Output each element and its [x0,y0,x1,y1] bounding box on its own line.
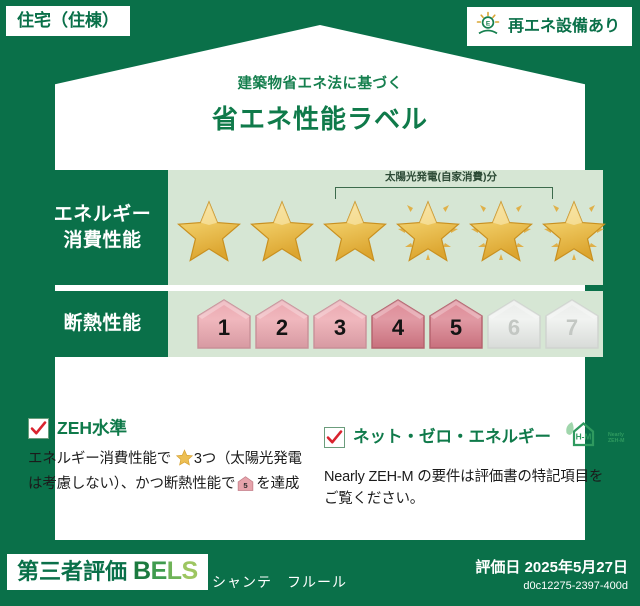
zeh-standard-description: エネルギー消費性能で 3つ（太陽光発電は考慮しない）、かつ断熱性能で 5 を達成 [28,448,308,500]
insulation-grade-inactive: 6 [486,297,542,351]
svg-text:H-M: H-M [576,432,592,442]
svg-text:ZEH-M: ZEH-M [608,438,624,444]
bels-letter-b: B [133,557,151,585]
star-rating [174,192,609,268]
check-icon [326,429,343,446]
insulation-label-text: 断熱性能 [63,311,141,337]
bels-letter-l: L [167,557,182,585]
star-solar [466,192,536,268]
star-base [174,192,244,268]
zeh-m-logo-icon: H-M Nearly ZEH-M [563,417,625,456]
renewable-equipment-badge: E 再エネ設備あり [467,7,632,46]
energy-performance-label: エネルギー 消費性能 [37,170,168,285]
net-zero-energy-title: ネット・ゼロ・エネルギー [353,429,551,446]
insulation-grade-number: 1 [196,317,252,339]
inline-star-icon [176,449,193,473]
insulation-grade-active: 5 [428,297,484,351]
insulation-grade-active: 2 [254,297,310,351]
label-footer: 第三者評価 BELS シャンテ フルール 評価日 2025年5月27日 d0c1… [0,548,640,606]
net-zero-energy-description: Nearly ZEH-M の要件は評価書の特記項目をご覧ください。 [324,466,604,511]
insulation-performance-row: 断熱性能 1 [37,291,603,357]
housing-type-tab: 住宅（住棟） [6,6,130,36]
title-subtitle: 建築物省エネ法に基づく [0,72,640,93]
insulation-performance-label: 断熱性能 [37,291,168,357]
insulation-grade-inactive: 7 [544,297,600,351]
insulation-grade-number: 2 [254,317,310,339]
insulation-rating-area: 1 2 3 [168,291,603,357]
star-base [247,192,317,268]
bels-letter-e: E [151,557,167,585]
zeh-standard-checkbox[interactable] [28,418,49,439]
insulation-grade-number: 4 [370,317,426,339]
star-solar [539,192,609,268]
solar-sun-icon: E [475,11,501,42]
bels-certification-mark: 第三者評価 BELS [7,554,208,590]
zeh-desc-part-1: エネルギー消費性能で [28,451,171,467]
insulation-grade-active: 4 [370,297,426,351]
insulation-grade-number: 7 [544,317,600,339]
star-base [320,192,390,268]
evaluation-id: d0c12275-2397-400d [475,580,628,592]
building-name: シャンテ フルール [212,572,347,592]
zeh-desc-part-3: を達成 [256,476,299,492]
zeh-standard-header: ZEH水準 [28,418,308,439]
zeh-criteria-group: ZEH水準 エネルギー消費性能で 3つ（太陽光発電は考慮しない）、かつ断熱性能で… [28,418,620,511]
net-zero-energy-checkbox[interactable] [324,427,345,448]
insulation-grade-number: 6 [486,317,542,339]
energy-label-line-2: 消費性能 [63,228,141,254]
bels-letter-s: S [182,557,198,585]
performance-rows: エネルギー 消費性能 太陽光発電(自家消費)分 [37,170,603,363]
energy-performance-label: 住宅（住棟） E 再エネ設備あり 建築物省エネ法に基づく 省エネ性能ラベル [0,0,640,606]
zeh-standard-title: ZEH水準 [57,420,127,438]
svg-text:E: E [486,20,491,27]
net-zero-energy-block: ネット・ゼロ・エネルギー H-M Nearly ZEH-M Nearly ZEH… [324,418,620,511]
bels-wordmark: BELS [133,559,198,584]
renewable-badge-label: 再エネ設備あり [508,19,620,35]
energy-rating-area: 太陽光発電(自家消費)分 [168,170,603,285]
energy-label-line-1: エネルギー [54,202,152,228]
page-title: 省エネ性能ラベル [0,99,640,136]
evaluation-date: 評価日 2025年5月27日 [475,556,628,577]
third-party-eval-label: 第三者評価 [17,561,127,583]
footer-evaluation-info: 評価日 2025年5月27日 d0c12275-2397-400d [475,556,628,592]
star-solar [393,192,463,268]
label-title-group: 建築物省エネ法に基づく 省エネ性能ラベル [0,72,640,136]
energy-performance-row: エネルギー 消費性能 太陽光発電(自家消費)分 [37,170,603,285]
inline-house-grade-icon: 5 [237,475,254,499]
net-zero-energy-header: ネット・ゼロ・エネルギー H-M Nearly ZEH-M [324,418,604,457]
insulation-grade-active: 1 [196,297,252,351]
insulation-grade-scale: 1 2 3 [196,297,600,351]
insulation-grade-number: 5 [428,317,484,339]
zeh-standard-block: ZEH水準 エネルギー消費性能で 3つ（太陽光発電は考慮しない）、かつ断熱性能で… [28,418,324,511]
check-icon [30,420,47,437]
insulation-grade-active: 3 [312,297,368,351]
solar-generation-note: 太陽光発電(自家消費)分 [328,172,554,183]
insulation-grade-number: 3 [312,317,368,339]
